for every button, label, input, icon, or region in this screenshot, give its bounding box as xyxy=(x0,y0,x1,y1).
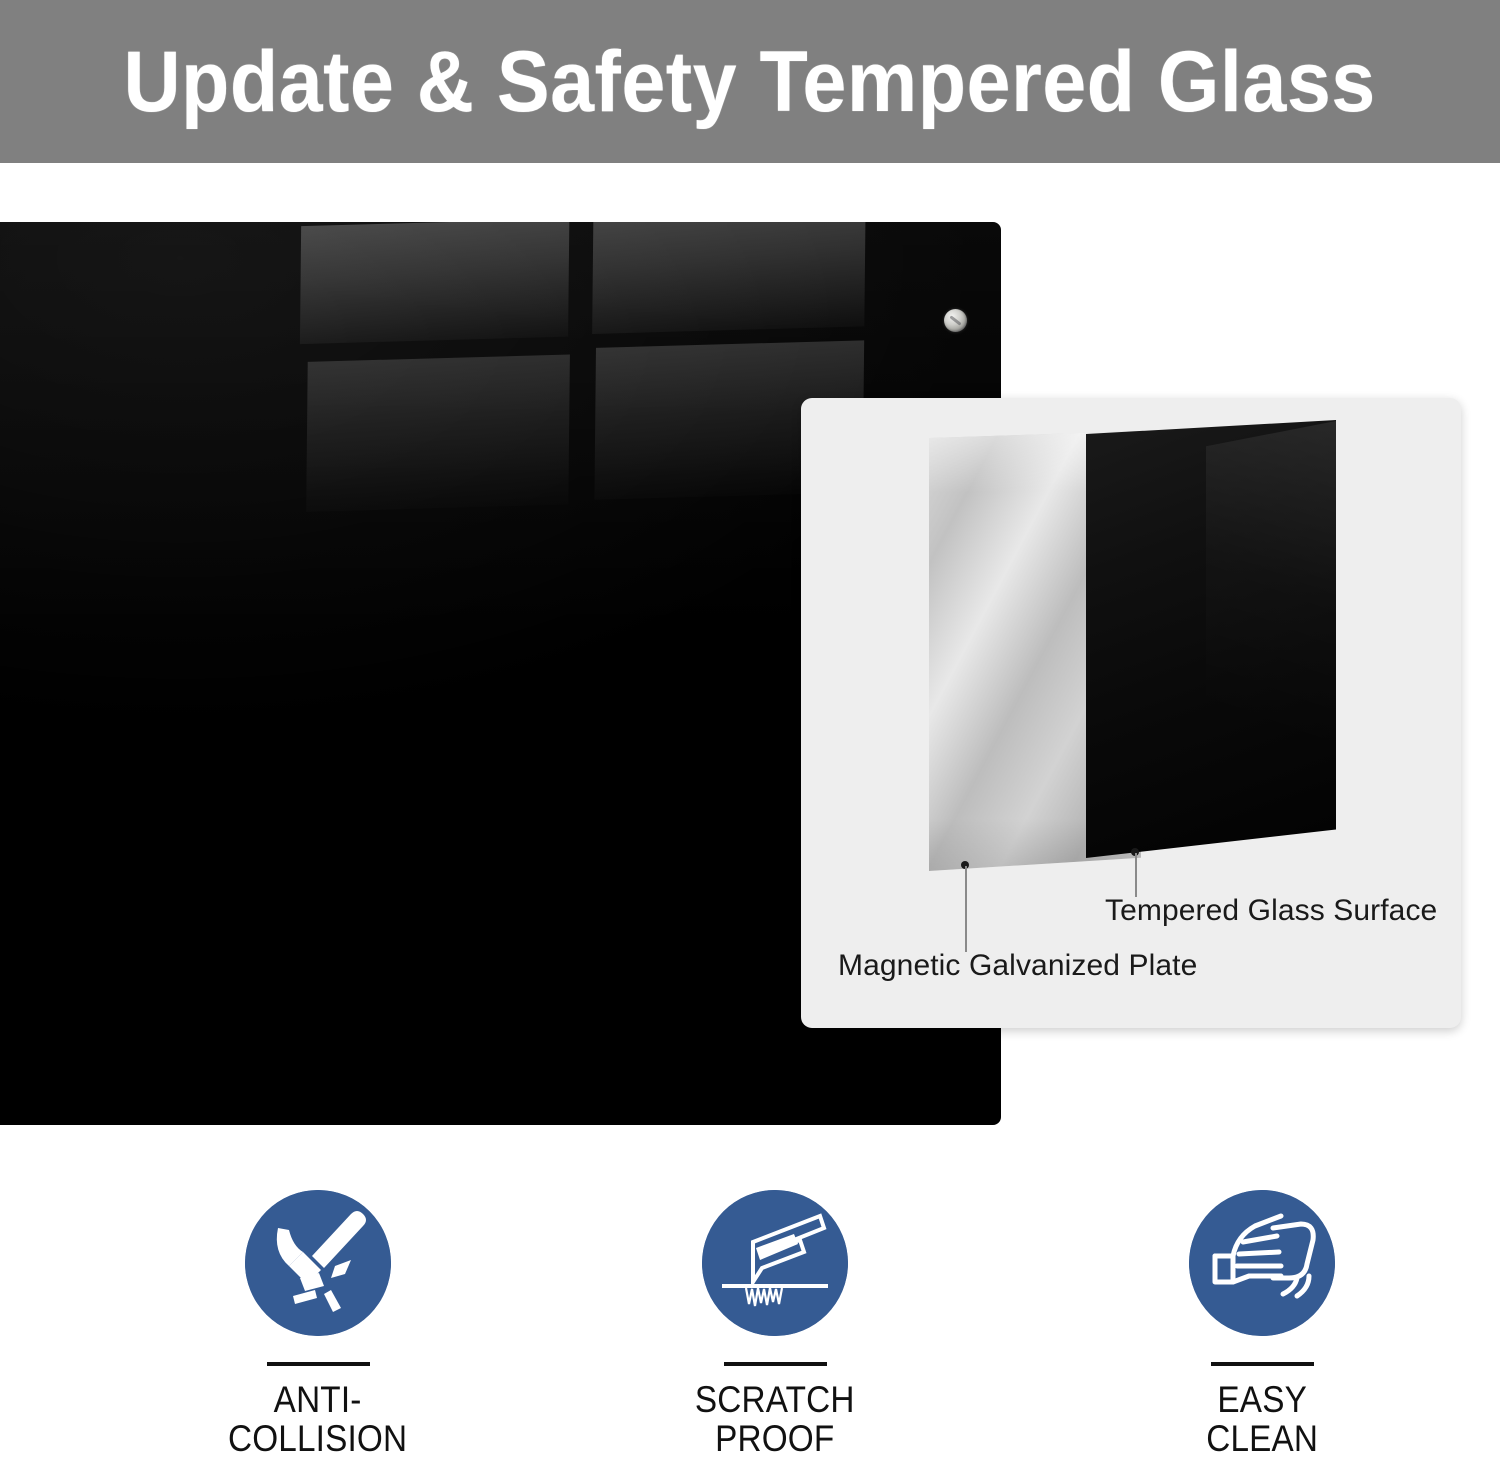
feature-scratch-proof: SCRATCH PROOF xyxy=(625,1168,925,1458)
feature-divider xyxy=(267,1362,370,1366)
feature-easy-clean: EASY CLEAN xyxy=(1112,1168,1412,1458)
feature-label-anti-collision: ANTI- COLLISION xyxy=(228,1380,407,1458)
feature-label-line2: PROOF xyxy=(715,1418,834,1459)
feature-anti-collision: ANTI- COLLISION xyxy=(168,1168,468,1458)
layer-callout-inset: Tempered Glass Surface Magnetic Galvaniz… xyxy=(801,398,1461,1028)
feature-label-easy-clean: EASY CLEAN xyxy=(1206,1380,1318,1458)
hammer-impact-icon xyxy=(245,1190,391,1336)
hand-wipe-cloth-icon xyxy=(1189,1190,1335,1336)
feature-label-line2: CLEAN xyxy=(1206,1418,1318,1459)
leader-line-plate xyxy=(965,866,967,952)
feature-divider xyxy=(1211,1362,1314,1366)
header-banner: Update & Safety Tempered Glass xyxy=(0,0,1500,163)
reflection-pane-top-left xyxy=(300,222,569,344)
mounting-screw-top-icon xyxy=(944,309,967,332)
leader-line-glass xyxy=(1135,853,1137,897)
glass-highlight xyxy=(1206,420,1341,858)
feature-row: ANTI- COLLISION SCRATCH PROOF xyxy=(0,1168,1500,1435)
feature-label-line1: SCRATCH xyxy=(695,1379,855,1420)
feature-label-scratch-proof: SCRATCH PROOF xyxy=(695,1380,855,1458)
tempered-glass-surface-layer xyxy=(1086,420,1336,858)
reflection-pane-top-right xyxy=(592,222,865,334)
callout-label-tempered-glass-surface: Tempered Glass Surface xyxy=(1105,896,1437,926)
page-title: Update & Safety Tempered Glass xyxy=(124,39,1376,125)
feature-divider xyxy=(724,1362,827,1366)
screw-slot xyxy=(949,315,961,325)
blade-scratch-icon xyxy=(702,1190,848,1336)
product-stage: Tempered Glass Surface Magnetic Galvaniz… xyxy=(0,163,1500,1168)
reflection-pane-bottom-left xyxy=(306,355,570,512)
feature-label-line1: ANTI- xyxy=(274,1379,362,1420)
callout-label-magnetic-galvanized-plate: Magnetic Galvanized Plate xyxy=(838,951,1197,981)
window-reflection xyxy=(298,222,881,484)
feature-label-line2: COLLISION xyxy=(228,1418,407,1459)
feature-label-line1: EASY xyxy=(1217,1379,1307,1420)
